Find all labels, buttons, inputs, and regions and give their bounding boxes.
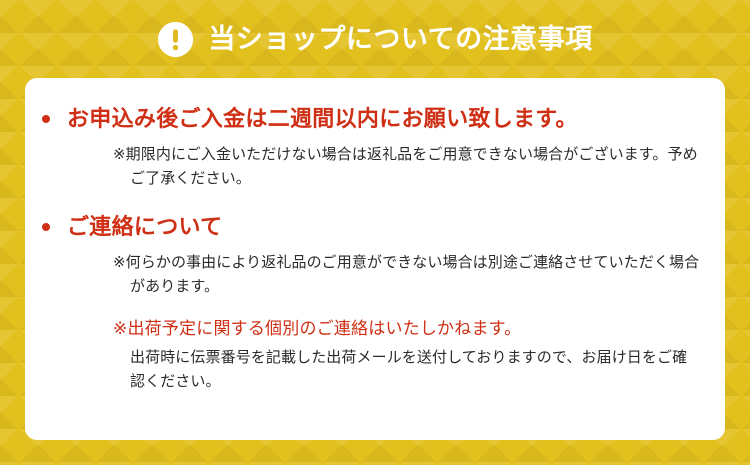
bullet-row: ご連絡について bbox=[42, 212, 701, 242]
banner-header: 当ショップについての注意事項 bbox=[0, 0, 750, 78]
section-heading-contact: ご連絡について bbox=[67, 212, 222, 242]
section-spacer bbox=[42, 191, 701, 212]
bullet-row: お申込み後ご入金は二週間以内にお願い致します。 bbox=[42, 104, 701, 134]
section-note-payment: ※期限内にご入金いただけない場合は返礼品をご用意できない場合がございます。予めご… bbox=[113, 143, 701, 192]
section-heading-payment: お申込み後ご入金は二週間以内にお願い致します。 bbox=[67, 104, 578, 134]
section-note-contact: ※何らかの事由により返礼品のご用意ができない場合は別途ご連絡させていただく場合が… bbox=[113, 251, 701, 300]
notice-card: お申込み後ご入金は二週間以内にお願い致します。 ※期限内にご入金いただけない場合… bbox=[25, 78, 725, 440]
section-note-shipping-warning: ※出荷予定に関する個別のご連絡はいたしかねます。 bbox=[113, 316, 701, 342]
notice-section-payment: お申込み後ご入金は二週間以内にお願い致します。 ※期限内にご入金いただけない場合… bbox=[42, 104, 701, 191]
notice-banner: 当ショップについての注意事項 お申込み後ご入金は二週間以内にお願い致します。 ※… bbox=[0, 0, 750, 465]
exclamation-circle-icon bbox=[157, 21, 194, 58]
bullet-dot-icon bbox=[42, 115, 50, 123]
section-note-shipping-detail: 出荷時に伝票番号を記載した出荷メールを送付しておりますので、お届け日をご確認くだ… bbox=[130, 346, 701, 395]
bullet-dot-icon bbox=[42, 223, 50, 231]
page-title: 当ショップについての注意事項 bbox=[208, 26, 592, 53]
notice-section-contact: ご連絡について ※何らかの事由により返礼品のご用意ができない場合は別途ご連絡させ… bbox=[42, 212, 701, 394]
